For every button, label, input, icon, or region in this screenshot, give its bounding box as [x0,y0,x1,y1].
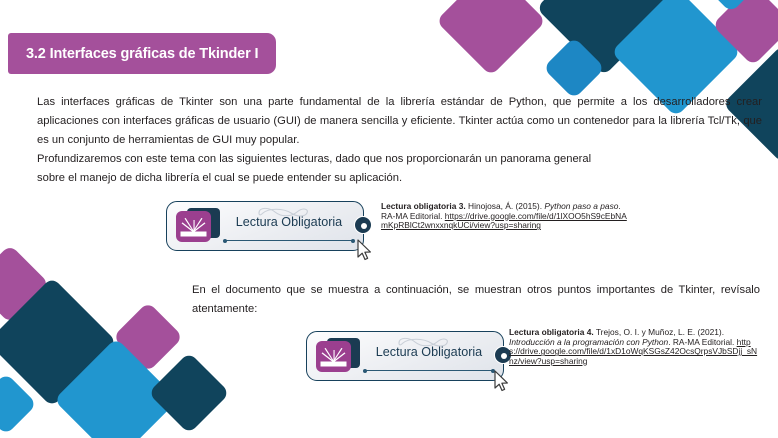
middle-paragraph: En el documento que se muestra a continu… [192,281,760,319]
intro-paragraph-line5: sobre el manejo de dicha librería el cua… [37,169,762,188]
citation-1: Lectura obligatoria 3. Hinojosa, Á. (201… [381,202,633,231]
citation-1-author: Hinojosa, Á. (2015). [466,201,545,211]
open-book-icon [316,338,362,374]
decor-diamond-lightblue-bottom-mid [54,338,178,438]
intro-paragraph-main: Las interfaces gráficas de Tkinter son u… [37,96,762,146]
badge-underline [224,240,354,241]
open-book-icon-glyph [176,211,211,242]
decor-diamond-midblue-small [543,37,605,99]
page-title: 3.2 Interfaces gráficas de Tkinder I [8,46,258,62]
badge-link-node[interactable] [354,216,372,234]
slide-canvas: 3.2 Interfaces gráficas de Tkinder I Las… [0,0,778,438]
decor-diamond-darkteal-bottomleft [0,277,117,407]
reading-badge-1[interactable]: Lectura Obligatoria [166,201,364,251]
badge-label: Lectura Obligatoria [225,215,353,229]
decor-diamond-magenta-right [712,0,778,66]
intro-paragraph-line4: Profundizaremos con este tema con las si… [37,150,762,169]
citation-1-title: Lectura obligatoria 3. [381,201,466,211]
citation-2-work: Introducción a la programación con Pytho… [509,337,668,347]
intro-paragraph: Las interfaces gráficas de Tkinter son u… [37,93,762,188]
citation-2: Lectura obligatoria 4. Trejos, O. I. y M… [509,328,761,366]
citation-2-author: Trejos, O. I. y Muñoz, L. E. (2021). [594,327,724,337]
citation-2-title: Lectura obligatoria 4. [509,327,594,337]
decor-diamond-darkteal-top [536,0,672,76]
mouse-cursor-icon [357,239,373,261]
reading-badge-2[interactable]: Lectura Obligatoria [306,331,504,381]
mouse-cursor-icon [494,370,510,392]
decor-diamond-magenta-bottom-mid [113,302,184,373]
badge-label: Lectura Obligatoria [365,345,493,359]
decor-diamond-lightblue-top-edge [687,0,775,13]
open-book-icon [176,208,222,244]
badge-underline [364,370,494,371]
decor-diamond-lightblue-bottomleft-small [0,373,37,435]
section-title-banner: 3.2 Interfaces gráficas de Tkinder I [8,33,276,74]
citation-1-work: Python paso a paso [544,201,618,211]
decor-diamond-magenta-top [436,0,546,76]
decor-diamond-darkteal-bottom-mid [148,352,230,434]
decor-diamond-magenta-bottomleft [0,244,50,323]
citation-2-publisher: . RA-MA Editorial. [668,337,734,347]
open-book-icon-glyph [316,341,351,372]
